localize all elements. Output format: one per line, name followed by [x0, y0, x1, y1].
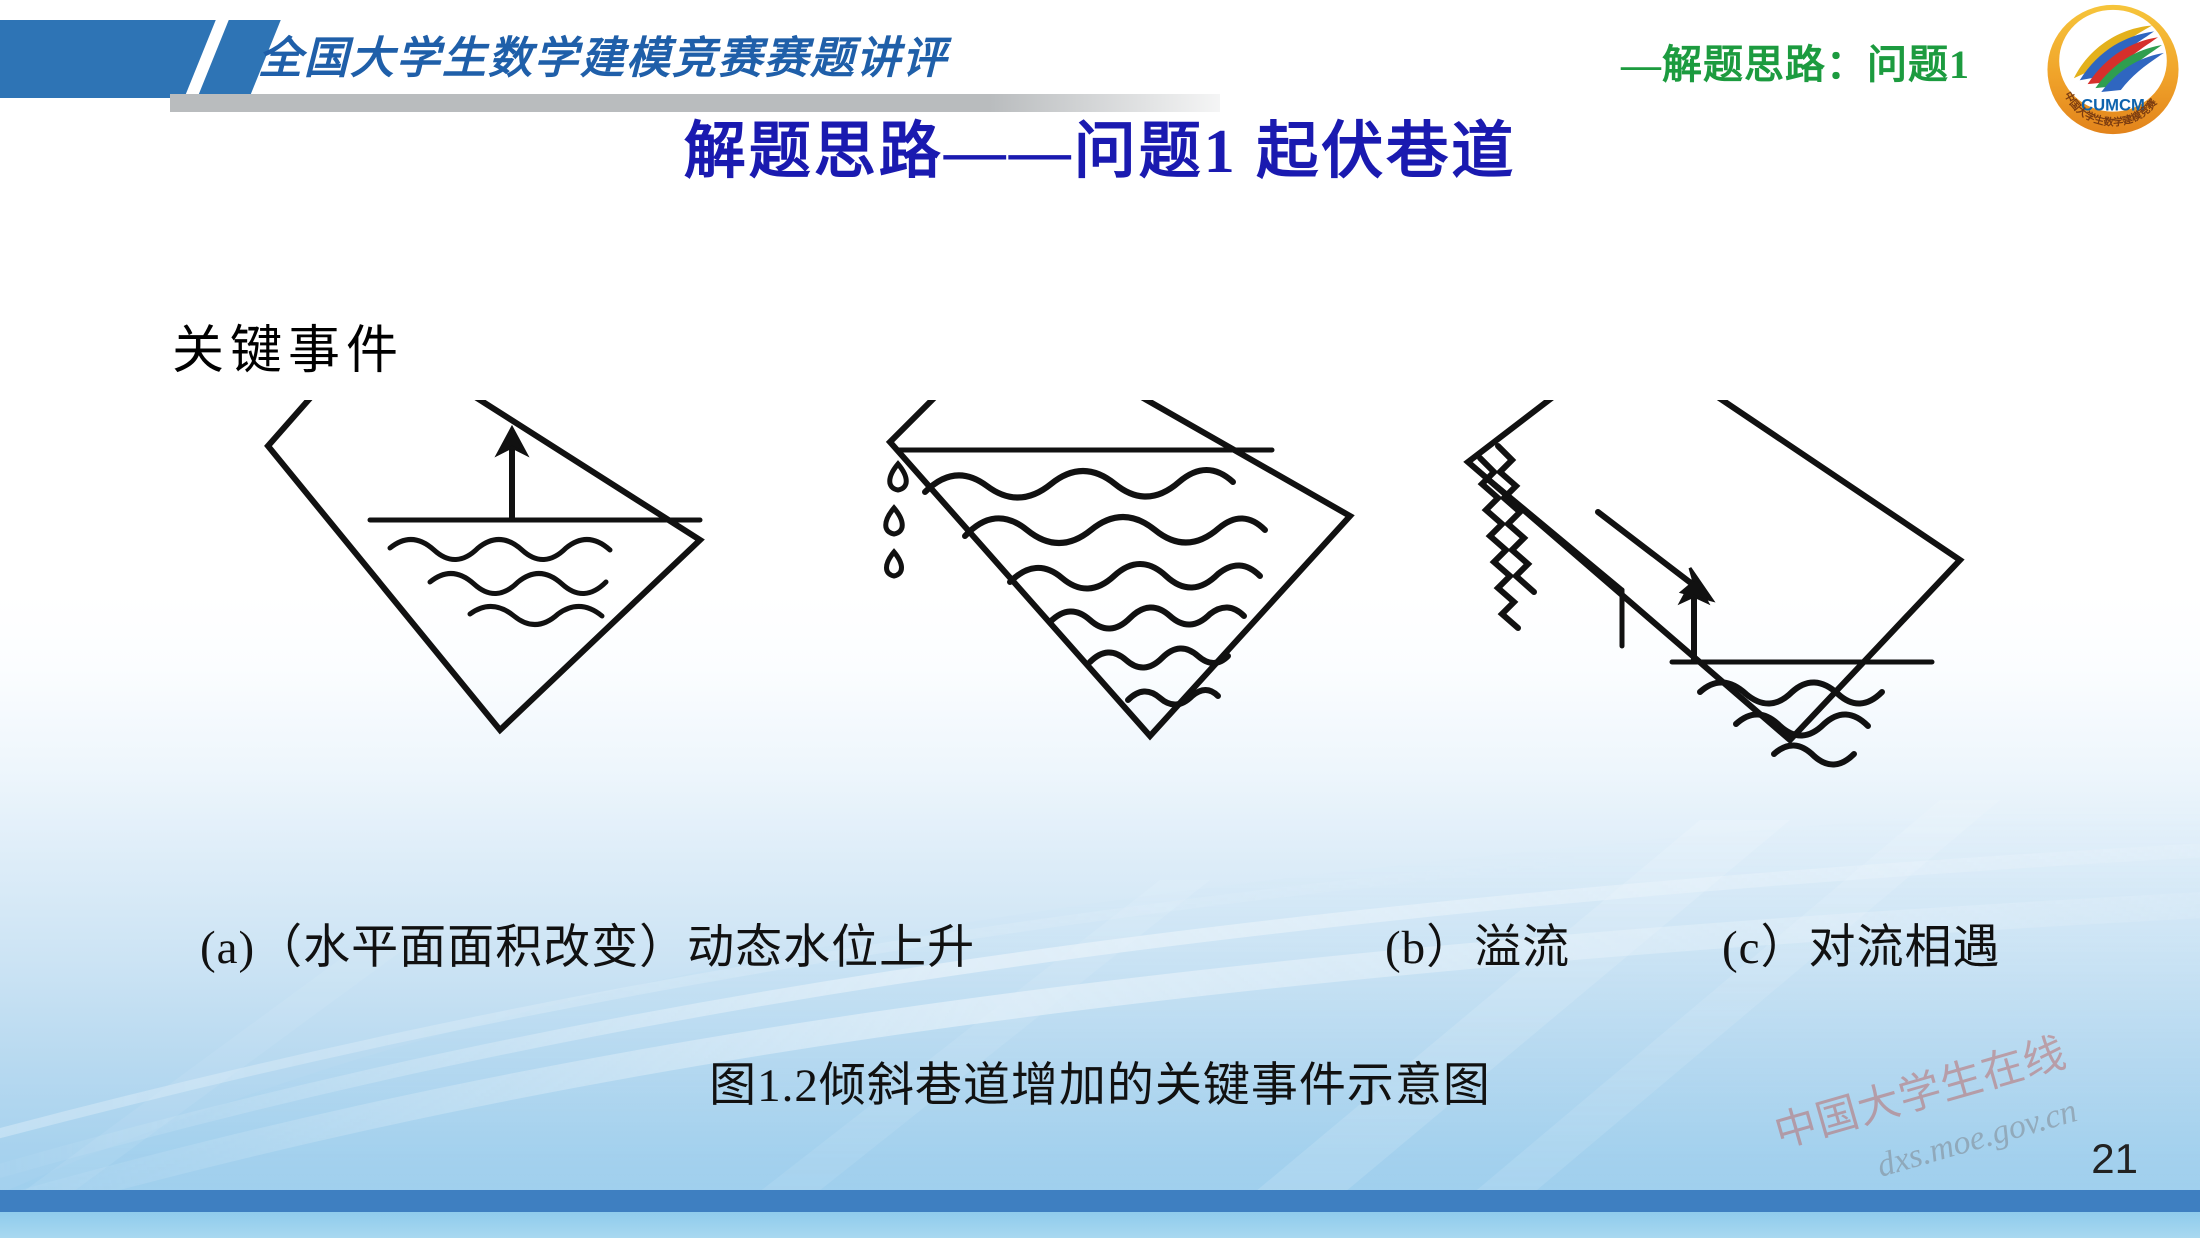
panel-captions-row: (a)（水平面面积改变）动态水位上升 (b）溢流 (c）对流相遇	[0, 908, 2200, 988]
figure-caption: 图1.2倾斜巷道增加的关键事件示意图	[0, 1046, 2200, 1115]
section-heading-key-events: 关键事件	[172, 308, 404, 383]
panel-caption-a: (a)（水平面面积改变）动态水位上升	[200, 908, 975, 977]
panel-b-wave-2	[965, 517, 1265, 543]
panel-b-droplets	[886, 464, 907, 576]
panel-b-wave-5	[1090, 648, 1228, 667]
panel-a-rising-arrow	[498, 428, 526, 518]
droplet-1	[890, 464, 907, 490]
panel-b-wave-4	[1050, 607, 1244, 628]
page-number: 21	[2091, 1135, 2138, 1183]
figure-diagrams	[0, 400, 2200, 860]
panel-b-wave-6	[1128, 690, 1218, 705]
diagram-panel-b	[886, 400, 1350, 736]
footer-gradient-strip	[0, 1212, 2200, 1238]
diagram-panel-a	[268, 400, 700, 730]
panel-caption-b: (b）溢流	[1385, 908, 1570, 977]
header-section-label: —解题思路：问题1	[1621, 32, 1970, 90]
panel-a-wave-3	[470, 606, 602, 624]
slide-canvas: 全国大学生数学建模竞赛赛题讲评 —解题思路：问题1 CUMCM 中国大学	[0, 0, 2200, 1238]
footer-accent-bar	[0, 1190, 2200, 1212]
page-title: 解题思路——问题1 起伏巷道	[0, 100, 2200, 190]
header-banner-title: 全国大学生数学建模竞赛赛题讲评	[258, 22, 948, 86]
panel-a-tunnel-outline	[268, 400, 700, 730]
panel-c-wave-1	[1700, 682, 1882, 703]
panel-a-wave-2	[430, 573, 606, 593]
droplet-2	[886, 508, 903, 534]
panel-c-channel-edge-1	[1468, 462, 1622, 590]
panel-c-wave-3	[1774, 745, 1854, 764]
panel-a-wave-1	[390, 539, 610, 559]
panel-b-wave-3	[1010, 564, 1260, 589]
droplet-3	[887, 552, 902, 576]
panel-b-wave-1	[925, 470, 1233, 498]
diagram-panel-c	[1468, 400, 1960, 765]
panel-c-tunnel-outline	[1468, 400, 1960, 740]
panel-caption-c: (c）对流相遇	[1722, 908, 2001, 977]
